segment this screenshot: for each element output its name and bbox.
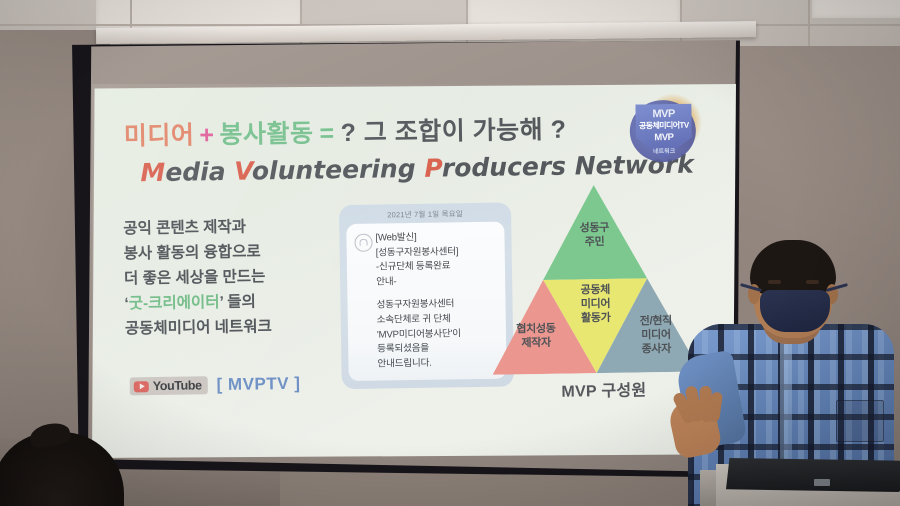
message-body: [Web발신] [성동구자원봉사센터] -신규단체 등록완료 안내- 성동구자원… bbox=[375, 230, 499, 372]
presenter-shirt-pocket bbox=[836, 400, 884, 442]
subtitle-cap-v: V bbox=[234, 157, 252, 186]
person-avatar-icon bbox=[354, 234, 372, 252]
youtube-logo: YouTube bbox=[130, 376, 208, 395]
triangle-left-line-1: 협치성동 bbox=[497, 321, 575, 336]
youtube-wordmark: YouTube bbox=[153, 378, 202, 393]
badge-line-1: MVP bbox=[635, 108, 691, 121]
slide-left-paragraph: 공익 콘텐츠 제작과 봉사 활동의 융합으로 더 좋은 세상을 만드는 ‘굿-크… bbox=[123, 213, 355, 342]
projected-slide: 미디어+봉사활동=? 그 조합이 가능해 ? Media Volunteerin… bbox=[92, 84, 736, 458]
laptop-logo bbox=[814, 479, 830, 486]
paragraph-line-3: 더 좋은 세상을 만드는 bbox=[124, 263, 354, 292]
triangle-label-top: 성동구 주민 bbox=[544, 220, 644, 250]
presenter-eye-right bbox=[806, 280, 819, 284]
slide-content: 미디어+봉사활동=? 그 조합이 가능해 ? Media Volunteerin… bbox=[92, 84, 736, 458]
play-icon bbox=[134, 381, 149, 392]
sms-message-card: 2021년 7월 1일 목요일 [Web발신] [성동구자원봉사센터] -신규단… bbox=[339, 202, 514, 389]
badge-line-3: MVP bbox=[632, 132, 696, 144]
message-bubble: [Web발신] [성동구자원봉사센터] -신규단체 등록완료 안내- 성동구자원… bbox=[346, 222, 506, 381]
triangle-label-left: 협치성동 제작자 bbox=[497, 321, 575, 350]
paragraph-line-2: 봉사 활동의 융합으로 bbox=[124, 238, 354, 267]
presenter-hair bbox=[750, 240, 836, 294]
ceiling-light-panel bbox=[812, 0, 900, 18]
paragraph-line-1: 공익 콘텐츠 제작과 bbox=[123, 213, 353, 242]
message-date: 2021년 7월 1일 목요일 bbox=[339, 207, 511, 221]
title-plus: + bbox=[199, 121, 215, 149]
triangle-mid-line-2: 미디어 bbox=[552, 296, 638, 311]
badge-line-4: 네트워크 bbox=[632, 146, 696, 156]
subtitle-rest-v: olunteering bbox=[252, 154, 425, 186]
mvp-triangle-diagram: 성동구 주민 공동체 미디어 활동가 협치성동 제작자 전/현직 미디어 종사자 bbox=[489, 184, 702, 387]
slide-subtitle: Media Volunteering Producers Network bbox=[140, 149, 700, 187]
triangle-mid-line-1: 공동체 bbox=[552, 282, 638, 297]
title-question: ? 그 조합이 가능해 ? bbox=[340, 116, 566, 148]
title-volunteering: 봉사활동 bbox=[219, 120, 313, 149]
ceiling-grid-line bbox=[808, 0, 810, 52]
paragraph-line-4: ‘굿-크리에이터’ 들의 bbox=[124, 288, 354, 317]
good-creator-highlight: 굿-크리에이터 bbox=[129, 294, 220, 312]
quote-close: ’ 들의 bbox=[219, 293, 256, 311]
youtube-channel-name: [ MVPTV ] bbox=[216, 374, 300, 395]
badge-line-2: 공동체미디어TV bbox=[632, 120, 696, 132]
presentation-photo-scene: 미디어+봉사활동=? 그 조합이 가능해 ? Media Volunteerin… bbox=[0, 0, 900, 506]
paragraph-line-5: 공동체미디어 네트워크 bbox=[125, 313, 355, 342]
slide-title: 미디어+봉사활동=? 그 조합이 가능해 ? bbox=[124, 107, 704, 152]
laptop bbox=[726, 458, 900, 492]
presenter-eye-left bbox=[768, 280, 781, 284]
title-media: 미디어 bbox=[124, 121, 195, 150]
message-line-9: 안내드립니다. bbox=[377, 355, 499, 372]
triangle-left-line-2: 제작자 bbox=[497, 335, 575, 350]
subtitle-cap-p: P bbox=[424, 154, 442, 183]
subtitle-cap-m: M bbox=[140, 158, 165, 187]
presenter-face-mask bbox=[760, 290, 830, 332]
youtube-row: YouTube [ MVPTV ] bbox=[130, 374, 301, 397]
title-equals: = bbox=[319, 119, 335, 147]
triangle-top-line-2: 주민 bbox=[544, 234, 644, 250]
subtitle-rest-m: edia bbox=[165, 157, 234, 187]
mvp-badge-logo: MVP 공동체미디어TV MVP 네트워크 bbox=[625, 89, 708, 166]
triangle-caption: MVP 구성원 bbox=[516, 376, 692, 403]
